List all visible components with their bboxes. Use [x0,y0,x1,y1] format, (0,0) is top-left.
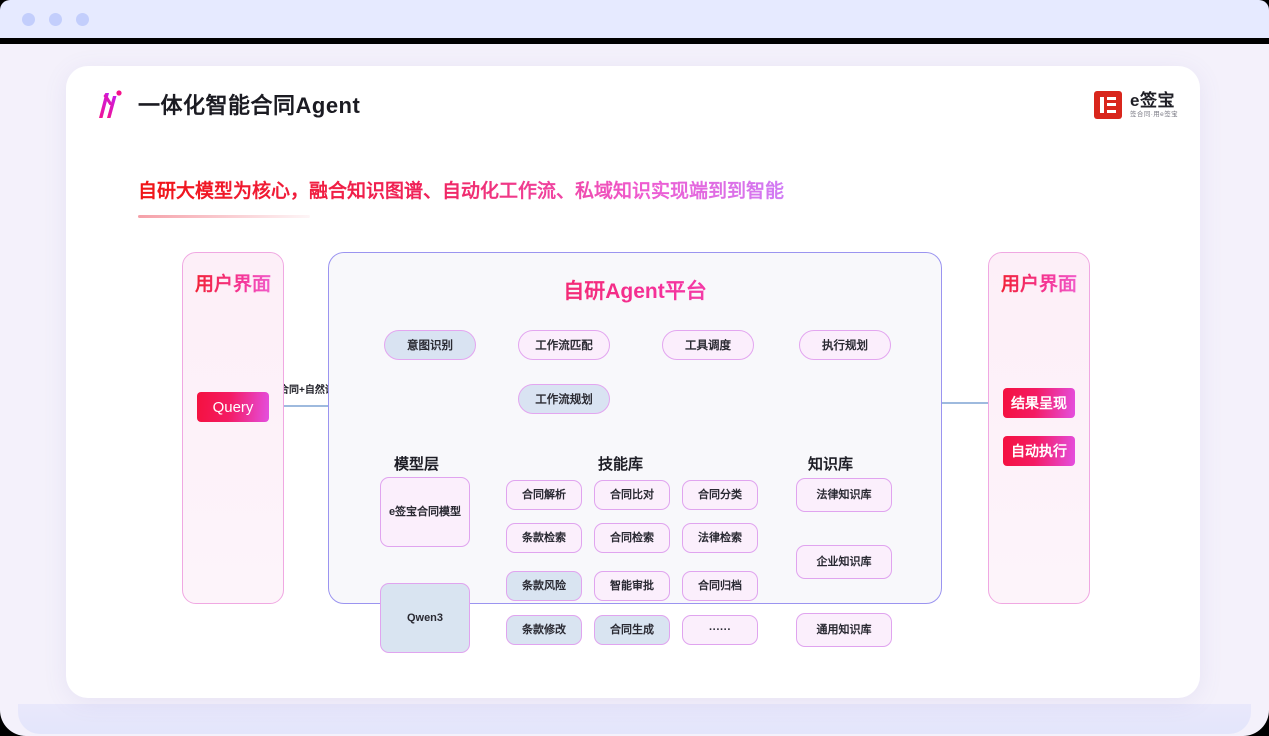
slide-card: 一体化智能合同Agent e签宝 签合同·用e签宝 自研大模型为核心，融合知识图… [66,66,1200,698]
flow-node-wfmatch[interactable]: 工作流匹配 [518,330,610,360]
flow-node-tool[interactable]: 工具调度 [662,330,754,360]
flow-node-wfplan[interactable]: 工作流规划 [518,384,610,414]
model-box-qwen3[interactable]: Qwen3 [380,583,470,653]
skill-box-contract-generate[interactable]: 合同生成 [594,615,670,645]
architecture-diagram: 合同+自然语言 用户界面 Query 自研Agent平台 意图识别 工作流匹配 … [66,66,1200,698]
panel-right-title: 用户界面 [989,269,1089,296]
window-title-bar [0,0,1269,38]
skill-box-contract-search[interactable]: 合同检索 [594,523,670,553]
model-box-contract-model[interactable]: e签宝合同模型 [380,477,470,547]
window-controls[interactable] [22,13,89,26]
panel-left-title: 用户界面 [183,269,283,296]
query-button[interactable]: Query [197,392,269,422]
skill-box-contract-compare[interactable]: 合同比对 [594,480,670,510]
flow-node-exec[interactable]: 执行规划 [799,330,891,360]
panel-left-user-interface: 用户界面 [182,252,284,604]
skill-box-clause-edit[interactable]: 条款修改 [506,615,582,645]
knowledge-box-enterprise[interactable]: 企业知识库 [796,545,892,579]
knowledge-box-general[interactable]: 通用知识库 [796,613,892,647]
skill-box-clause-risk[interactable]: 条款风险 [506,571,582,601]
skill-box-more[interactable]: ······ [682,615,758,645]
skill-box-smart-approval[interactable]: 智能审批 [594,571,670,601]
knowledge-box-legal[interactable]: 法律知识库 [796,478,892,512]
skill-box-contract-parse[interactable]: 合同解析 [506,480,582,510]
result-presentation-button[interactable]: 结果呈现 [1003,388,1075,418]
skill-box-law-search[interactable]: 法律检索 [682,523,758,553]
skill-box-contract-archive[interactable]: 合同归档 [682,571,758,601]
panel-right-user-interface: 用户界面 [988,252,1090,604]
bottom-strip [18,704,1251,734]
maximize-dot-icon[interactable] [76,13,89,26]
section-title-model-layer: 模型层 [394,453,439,474]
flow-node-intent[interactable]: 意图识别 [384,330,476,360]
section-title-skill-library: 技能库 [598,453,643,474]
close-dot-icon[interactable] [22,13,35,26]
skill-box-clause-search[interactable]: 条款检索 [506,523,582,553]
browser-window: 一体化智能合同Agent e签宝 签合同·用e签宝 自研大模型为核心，融合知识图… [0,0,1269,736]
section-title-knowledge-base: 知识库 [808,453,853,474]
minimize-dot-icon[interactable] [49,13,62,26]
skill-box-contract-classify[interactable]: 合同分类 [682,480,758,510]
platform-title: 自研Agent平台 [329,275,941,305]
auto-execute-button[interactable]: 自动执行 [1003,436,1075,466]
